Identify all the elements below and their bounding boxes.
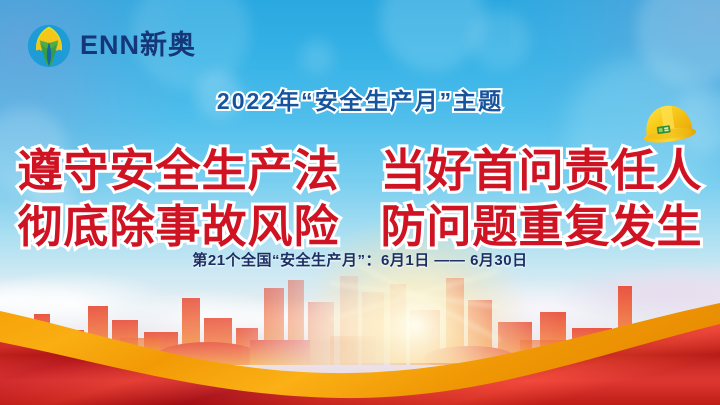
- headline-line-2-right: 防问题重复发生: [381, 201, 703, 252]
- red-ribbon-icon: [0, 280, 720, 405]
- headline-line-1-left: 遵守安全生产法: [17, 145, 339, 196]
- headline-line-1-right: 当好首问责任人: [381, 145, 703, 196]
- brand-name: ENN新奥: [80, 32, 196, 59]
- enn-flower-logo-icon: [26, 22, 72, 68]
- banner-footnote: 第21个全国“安全生产月”：6月1日 —— 6月30日: [0, 249, 720, 270]
- safety-production-month-banner: ENN新奥 2022年“安全生产月”主题 遵守安全生产法 当好首问责任人 彻底除…: [0, 0, 720, 405]
- headline-line-2: 彻底除事故风险 防问题重复发生: [0, 190, 720, 255]
- safety-helmet-icon: [636, 98, 702, 150]
- headline-line-2-left: 彻底除事故风险: [17, 201, 339, 252]
- bokeh-circle: [300, 40, 334, 74]
- banner-subtitle: 2022年“安全生产月”主题: [0, 82, 720, 116]
- bokeh-circle: [470, 10, 530, 70]
- brand-logo[interactable]: ENN新奥: [26, 22, 196, 68]
